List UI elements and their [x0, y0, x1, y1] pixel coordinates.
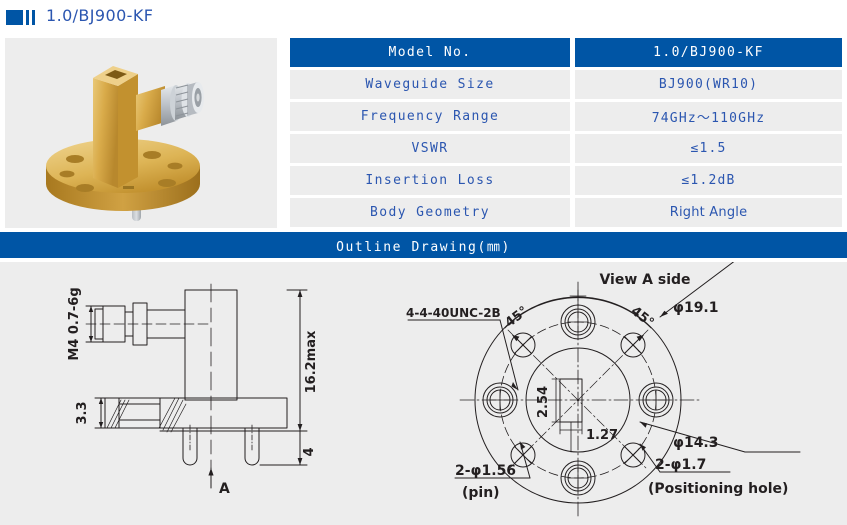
- spec-value-cell: Right Angle: [575, 198, 842, 227]
- hole-callout-label: 2-φ1.7: [655, 457, 706, 473]
- height-dimension-label: 16.2max: [304, 330, 319, 393]
- spec-label: Waveguide Size: [365, 77, 494, 92]
- outline-drawing-title: Outline Drawing(㎜): [336, 236, 511, 255]
- datasheet-page: 1.0/BJ900-KF: [0, 0, 847, 525]
- pin-callout-label: 2-φ1.56: [455, 463, 516, 479]
- spec-value-cell: ≤1.2dB: [575, 166, 842, 195]
- page-header: 1.0/BJ900-KF: [0, 0, 847, 34]
- spec-label: Model No.: [388, 45, 471, 60]
- angle-right-label: 45°: [628, 304, 657, 331]
- spec-label-cell: Waveguide Size: [290, 70, 570, 99]
- spec-value-cell: ≤1.5: [575, 134, 842, 163]
- spec-table: Model No. 1.0/BJ900-KF Waveguide Size BJ…: [290, 38, 842, 228]
- table-row: Body Geometry Right Angle: [290, 198, 842, 227]
- spec-label-cell: Body Geometry: [290, 198, 570, 227]
- section-marker-label: A: [219, 481, 230, 497]
- spec-label: Insertion Loss: [365, 173, 494, 188]
- spec-value: BJ900(WR10): [659, 77, 758, 92]
- outer-diameter-label: φ19.1: [673, 300, 719, 316]
- bolt-circle-diameter-label: φ14.3: [673, 435, 719, 451]
- spec-value-cell: BJ900(WR10): [575, 70, 842, 99]
- spec-value: 74GHz～110GHz: [652, 107, 766, 126]
- aperture-width-label: 1.27: [586, 428, 618, 443]
- table-row: Frequency Range 74GHz～110GHz: [290, 102, 842, 131]
- hole-callout-sublabel: (Positioning hole): [648, 481, 788, 497]
- spec-value: 1.0/BJ900-KF: [653, 45, 764, 60]
- front-view-drawing: [408, 262, 800, 518]
- product-photo-panel: [5, 38, 277, 228]
- aperture-height-label: 2.54: [536, 386, 551, 418]
- table-row: VSWR ≤1.5: [290, 134, 842, 163]
- front-view-title: View A side: [599, 272, 690, 288]
- pin-length-label: 4: [302, 447, 317, 456]
- outline-drawings: M4 0.7-6g 16.2max 3.3 4 A View A side 45…: [0, 262, 847, 525]
- spec-label-cell: VSWR: [290, 134, 570, 163]
- spec-value: ≤1.2dB: [681, 173, 735, 188]
- pin-callout-sublabel: (pin): [462, 485, 500, 501]
- table-row: Insertion Loss ≤1.2dB: [290, 166, 842, 195]
- product-photo: [5, 38, 277, 228]
- thread-spec-label: M4 0.7-6g: [67, 287, 82, 360]
- spec-value: ≤1.5: [690, 141, 726, 156]
- table-row: Waveguide Size BJ900(WR10): [290, 70, 842, 99]
- page-title: 1.0/BJ900-KF: [46, 6, 153, 25]
- spec-label: Frequency Range: [361, 109, 499, 124]
- spec-value-cell: 74GHz～110GHz: [575, 102, 842, 131]
- outline-drawing-panel: M4 0.7-6g 16.2max 3.3 4 A View A side 45…: [0, 262, 847, 525]
- spec-value: Right Angle: [670, 205, 748, 220]
- spec-label-cell: Insertion Loss: [290, 166, 570, 195]
- table-row: Model No. 1.0/BJ900-KF: [290, 38, 842, 67]
- spec-label: VSWR: [412, 141, 449, 156]
- spec-label-cell: Frequency Range: [290, 102, 570, 131]
- spec-value-cell: 1.0/BJ900-KF: [575, 38, 842, 67]
- side-view-drawing: [86, 284, 307, 488]
- spec-label: Body Geometry: [370, 205, 490, 220]
- bars-logo-icon: [6, 10, 42, 25]
- spec-label-cell: Model No.: [290, 38, 570, 67]
- flange-thickness-label: 3.3: [75, 401, 90, 424]
- thread-spec-label: 4-4-40UNC-2B: [406, 306, 501, 320]
- outline-drawing-bar: Outline Drawing(㎜): [0, 232, 847, 258]
